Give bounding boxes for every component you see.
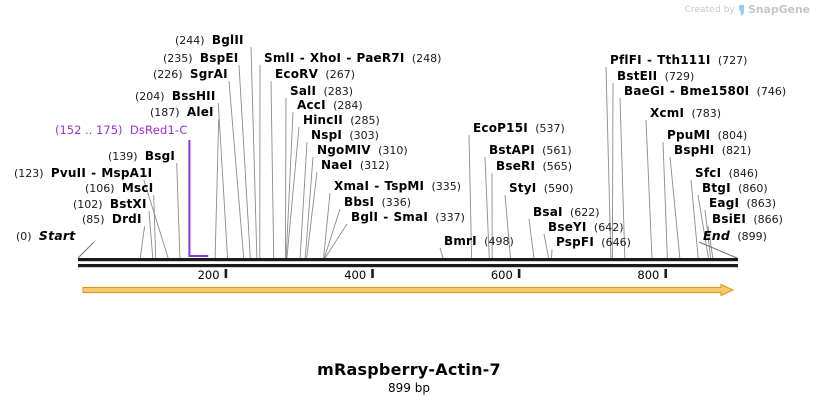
- site-leader-line: [140, 226, 144, 258]
- enzyme-name: BglI: [351, 210, 378, 224]
- orf-direction-arrow: [83, 285, 733, 296]
- feature-marks-group: [189, 140, 208, 256]
- site-position: (860): [738, 182, 768, 195]
- enzyme-name: XhoI: [310, 51, 341, 65]
- restriction-site-label[interactable]: SalI (283): [290, 85, 353, 98]
- site-position: (244): [175, 34, 205, 47]
- feature-name: DsRed1-C: [130, 123, 188, 137]
- restriction-site-label[interactable]: XmaI - TspMI (335): [334, 180, 461, 193]
- feature-range: (152 .. 175): [55, 123, 123, 137]
- enzyme-name: StyI: [509, 181, 536, 195]
- site-leader-line: [300, 142, 307, 258]
- site-position: (804): [718, 129, 748, 142]
- restriction-site-label[interactable]: PpuMI (804): [667, 129, 747, 142]
- site-position: (85): [82, 213, 105, 226]
- restriction-site-label[interactable]: StyI (590): [509, 182, 573, 195]
- site-position: (642): [594, 221, 624, 234]
- enzyme-name: NgoMIV: [317, 143, 371, 157]
- site-position: (139): [108, 150, 138, 163]
- restriction-site-label[interactable]: SmlI - XhoI - PaeR7I (248): [264, 52, 441, 65]
- site-leader-line: [691, 180, 698, 258]
- sequence-name: mRaspberry-Actin-7: [0, 360, 818, 379]
- ruler-tick: [371, 269, 374, 278]
- backbone-strand-bottom: [78, 264, 738, 267]
- ruler-tick: [664, 269, 667, 278]
- restriction-site-label[interactable]: BglI - SmaI (337): [351, 211, 465, 224]
- restriction-site-label[interactable]: XcmI (783): [650, 107, 721, 120]
- ruler-tick: [518, 269, 521, 278]
- enzyme-name: SgrAI: [190, 67, 228, 81]
- enzyme-separator: -: [86, 166, 101, 180]
- restriction-site-label[interactable]: (85) DrdI: [82, 213, 142, 226]
- restriction-site-label[interactable]: NspI (303): [311, 129, 379, 142]
- site-position: (498): [484, 235, 514, 248]
- site-position: (310): [378, 144, 408, 157]
- site-position: (335): [432, 180, 462, 193]
- site-position: (267): [325, 68, 355, 81]
- enzyme-name: PaeR7I: [357, 51, 405, 65]
- site-leader-line: [544, 234, 549, 258]
- site-leader-line: [670, 157, 680, 258]
- site-leader-line: [529, 219, 534, 258]
- site-position: (187): [150, 106, 180, 119]
- site-leader-line: [271, 81, 274, 258]
- snapgene-watermark: Created by SnapGene: [684, 3, 810, 16]
- site-position: (561): [542, 144, 572, 157]
- enzyme-name: BbsI: [344, 195, 374, 209]
- site-leader-line: [307, 172, 317, 258]
- site-leader-line: [698, 195, 708, 258]
- enzyme-name: PspFI: [556, 235, 594, 249]
- restriction-site-label[interactable]: EcoP15I (537): [473, 122, 565, 135]
- restriction-site-label[interactable]: PspFI (646): [556, 236, 631, 249]
- ruler-tick-label-800: 800: [637, 268, 659, 282]
- enzyme-separator: -: [369, 179, 384, 193]
- site-position: (565): [542, 160, 572, 173]
- site-position: (283): [323, 85, 353, 98]
- site-position: (235): [163, 52, 193, 65]
- site-position: (622): [570, 206, 600, 219]
- site-position: (204): [135, 90, 165, 103]
- enzyme-name: BmrI: [444, 234, 477, 248]
- enzyme-name: SmlI: [264, 51, 295, 65]
- site-leader-line: [251, 47, 257, 258]
- restriction-site-label[interactable]: BsiEI (866): [712, 213, 783, 226]
- enzyme-name: PflFI: [610, 53, 642, 67]
- site-position: (312): [360, 159, 390, 172]
- site-position: (226): [153, 68, 183, 81]
- site-leader-line: [287, 127, 299, 258]
- enzyme-name: AleI: [187, 105, 214, 119]
- site-position: (336): [381, 196, 411, 209]
- enzyme-name: BsiEI: [712, 212, 746, 226]
- site-leader-line: [620, 98, 625, 258]
- restriction-site-label[interactable]: (204) BssHII: [135, 90, 216, 103]
- site-leader-line: [239, 65, 250, 258]
- feature-label[interactable]: (152 .. 175) DsRed1-C: [55, 124, 188, 137]
- restriction-site-label[interactable]: NaeI (312): [321, 159, 389, 172]
- site-leader-line: [229, 81, 244, 258]
- enzyme-separator: -: [665, 84, 680, 98]
- enzyme-name: BspHI: [674, 143, 714, 157]
- enzyme-name: SfcI: [695, 166, 721, 180]
- enzyme-name: BaeGI: [624, 84, 665, 98]
- enzyme-name: EagI: [709, 196, 739, 210]
- site-leader-line: [149, 211, 153, 258]
- restriction-site-label[interactable]: (139) BsgI: [108, 150, 175, 163]
- ruler-tick-label-400: 400: [344, 268, 366, 282]
- restriction-site-label[interactable]: BseYI (642): [548, 221, 624, 234]
- sequence-title-block: mRaspberry-Actin-7 899 bp: [0, 360, 818, 395]
- site-position: (729): [665, 70, 695, 83]
- sequence-map: Created by SnapGene (244) BglII(235) Bsp…: [0, 0, 818, 400]
- site-position: (102): [73, 198, 103, 211]
- restriction-site-label[interactable]: BstAPI (561): [489, 144, 572, 157]
- site-position: (863): [746, 197, 776, 210]
- site-leader-line: [215, 119, 219, 258]
- restriction-site-label[interactable]: BstEII (729): [617, 70, 694, 83]
- enzyme-separator: -: [295, 51, 310, 65]
- enzyme-separator: -: [642, 53, 657, 67]
- start-terminus[interactable]: (0) Start: [16, 229, 75, 243]
- enzyme-name: BtgI: [702, 181, 731, 195]
- enzyme-name: NaeI: [321, 158, 353, 172]
- backbone-group: [78, 258, 738, 267]
- site-leader-line: [325, 224, 347, 258]
- site-position: (106): [85, 182, 115, 195]
- site-leader-line: [440, 248, 443, 258]
- terminus-position: (899): [737, 230, 767, 243]
- site-leader-line: [324, 209, 340, 258]
- enzyme-name: MscI: [122, 181, 153, 195]
- enzyme-name: BspEI: [200, 51, 239, 65]
- site-position: (866): [753, 213, 783, 226]
- restriction-site-label[interactable]: BseRI (565): [496, 160, 572, 173]
- enzyme-name: BseYI: [548, 220, 587, 234]
- terminus-leader-line: [699, 242, 737, 258]
- enzyme-name: PvuII: [51, 166, 86, 180]
- site-leader-line: [505, 195, 510, 258]
- enzyme-name: TspMI: [384, 179, 424, 193]
- site-leader-line: [154, 195, 156, 258]
- terminus-leader-line: [78, 242, 94, 258]
- enzyme-name: BglII: [212, 33, 244, 47]
- enzyme-name: BstEII: [617, 69, 657, 83]
- enzyme-separator: -: [378, 210, 393, 224]
- terminus-label: End: [703, 228, 730, 243]
- enzyme-name: Bme1580I: [680, 84, 749, 98]
- restriction-site-label[interactable]: (102) BstXI: [73, 198, 147, 211]
- watermark-prefix: Created by: [684, 5, 735, 15]
- ruler-ticks-group: [225, 269, 667, 278]
- enzyme-name: BstAPI: [489, 143, 535, 157]
- enzyme-name: DrdI: [112, 212, 142, 226]
- site-leader-line: [663, 142, 667, 258]
- restriction-site-label[interactable]: (235) BspEI: [163, 52, 238, 65]
- backbone-strand-top: [78, 258, 738, 261]
- restriction-site-label[interactable]: SfcI (846): [695, 167, 758, 180]
- restriction-site-label[interactable]: NgoMIV (310): [317, 144, 408, 157]
- restriction-site-label[interactable]: (244) BglII: [175, 34, 244, 47]
- site-leader-line: [646, 120, 652, 258]
- site-position: (727): [718, 54, 748, 67]
- site-leader-line: [324, 193, 330, 258]
- site-position: (590): [544, 182, 574, 195]
- snapgene-logo-icon: [738, 5, 745, 16]
- site-leader-line: [285, 98, 286, 258]
- site-position: (248): [412, 52, 442, 65]
- restriction-site-label[interactable]: (123) PvuII - MspA1I: [14, 167, 152, 180]
- site-position: (537): [535, 122, 565, 135]
- enzyme-name: EcoP15I: [473, 121, 528, 135]
- restriction-site-label[interactable]: EcoRV (267): [275, 68, 355, 81]
- enzyme-name: BseRI: [496, 159, 535, 173]
- restriction-site-label[interactable]: BaeGI - Bme1580I (746): [624, 85, 786, 98]
- enzyme-name: XmaI: [334, 179, 369, 193]
- enzyme-name: BsaI: [533, 205, 563, 219]
- enzyme-name: SalI: [290, 84, 316, 98]
- enzyme-name: BstXI: [110, 197, 147, 211]
- ruler-tick: [225, 269, 228, 278]
- restriction-site-label[interactable]: (187) AleI: [150, 106, 214, 119]
- ruler-tick-label-200: 200: [198, 268, 220, 282]
- restriction-site-label[interactable]: BtgI (860): [702, 182, 768, 195]
- site-position: (846): [729, 167, 759, 180]
- restriction-site-label[interactable]: PflFI - Tth111I (727): [610, 54, 747, 67]
- terminus-position: (0): [16, 230, 32, 243]
- restriction-site-label[interactable]: AccI (284): [297, 99, 363, 112]
- site-leader-line: [286, 112, 293, 258]
- restriction-site-label[interactable]: (226) SgrAI: [153, 68, 228, 81]
- enzyme-separator: -: [341, 51, 356, 65]
- site-leader-line: [305, 157, 313, 258]
- enzyme-name: SmaI: [393, 210, 428, 224]
- enzyme-name: MspA1I: [101, 166, 152, 180]
- restriction-site-label[interactable]: (106) MscI: [85, 182, 153, 195]
- site-leader-line: [218, 103, 227, 258]
- enzyme-name: BssHII: [172, 89, 216, 103]
- site-position: (123): [14, 167, 44, 180]
- site-position: (284): [333, 99, 363, 112]
- enzyme-name: BsgI: [145, 149, 175, 163]
- enzyme-name: XcmI: [650, 106, 684, 120]
- orf-arrow-group: [83, 285, 733, 296]
- restriction-site-label[interactable]: BsaI (622): [533, 206, 600, 219]
- restriction-site-label[interactable]: BmrI (498): [444, 235, 514, 248]
- site-leader-line: [177, 163, 180, 258]
- site-position: (337): [435, 211, 465, 224]
- restriction-site-label[interactable]: HincII (285): [303, 114, 380, 127]
- site-position: (285): [350, 114, 380, 127]
- enzyme-name: Tth111I: [657, 53, 710, 67]
- feature-bracket-dsred1-c: [189, 140, 208, 256]
- restriction-site-label[interactable]: BbsI (336): [344, 196, 411, 209]
- sequence-length: 899 bp: [0, 381, 818, 395]
- enzyme-name: HincII: [303, 113, 343, 127]
- site-position: (646): [601, 236, 631, 249]
- watermark-brand: SnapGene: [748, 3, 810, 16]
- site-position: (746): [757, 85, 787, 98]
- ruler-tick-label-600: 600: [491, 268, 513, 282]
- restriction-site-label[interactable]: EagI (863): [709, 197, 776, 210]
- enzyme-name: PpuMI: [667, 128, 710, 142]
- terminus-label: Start: [39, 228, 76, 243]
- site-position: (303): [349, 129, 379, 142]
- end-terminus[interactable]: End (899): [703, 229, 767, 243]
- site-position: (783): [691, 107, 721, 120]
- enzyme-name: NspI: [311, 128, 342, 142]
- enzyme-name: EcoRV: [275, 67, 318, 81]
- restriction-site-label[interactable]: BspHI (821): [674, 144, 751, 157]
- enzyme-name: AccI: [297, 98, 326, 112]
- site-position: (821): [722, 144, 752, 157]
